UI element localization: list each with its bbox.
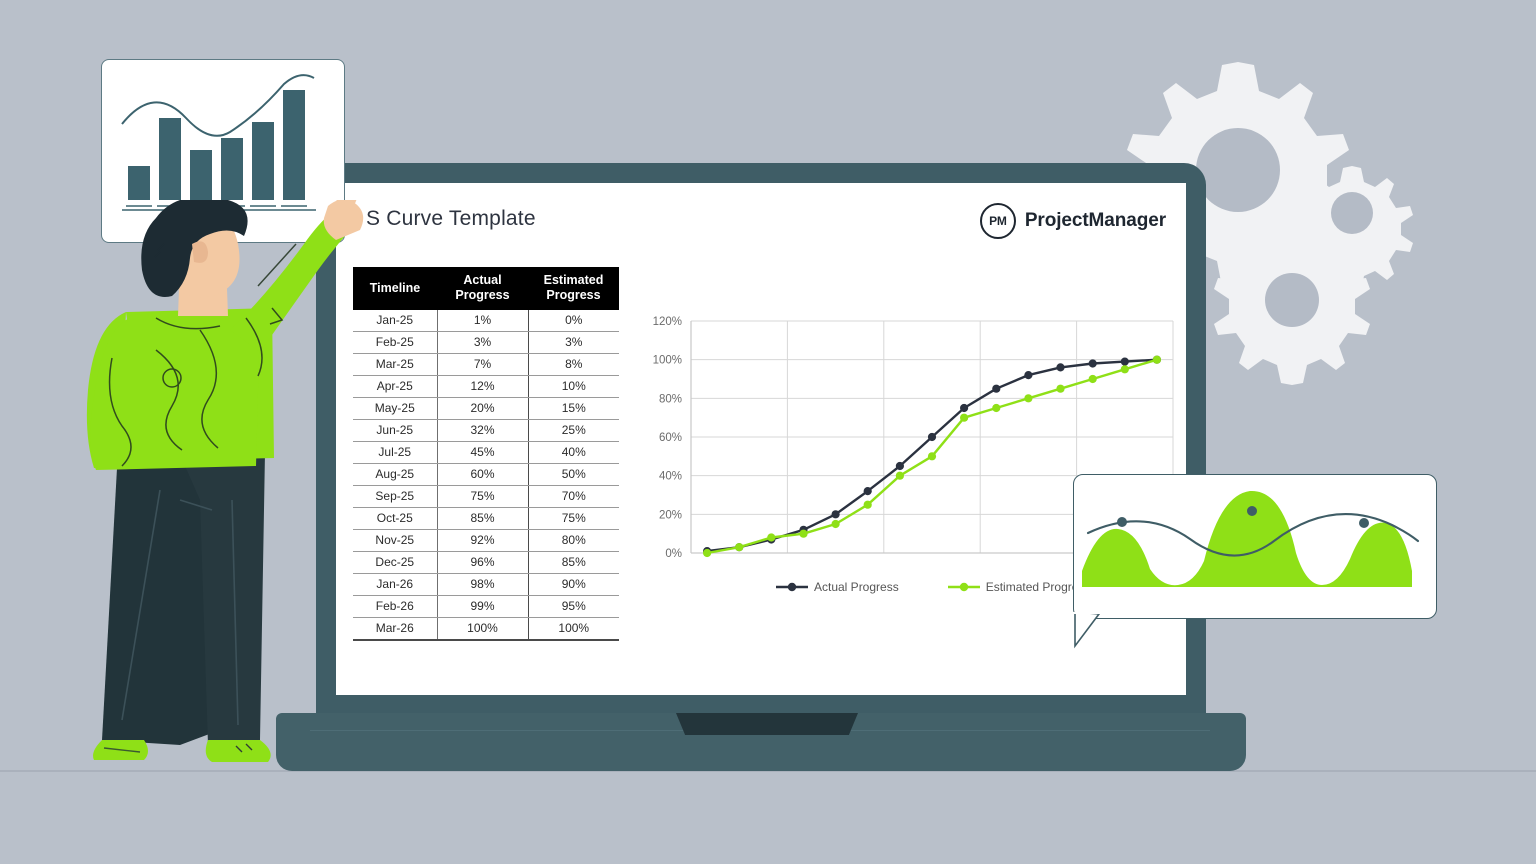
table-cell-actual: 32% <box>437 419 528 441</box>
table-row: Jul-2545%40% <box>353 441 619 463</box>
table-cell-estimated: 40% <box>528 441 619 463</box>
gear-medium-icon <box>1214 228 1370 385</box>
data-point <box>864 487 872 495</box>
whiteboard-chart-icon <box>102 60 340 238</box>
whiteboard-bar <box>283 90 305 200</box>
table-cell-actual: 20% <box>437 397 528 419</box>
data-point <box>1024 394 1032 402</box>
table-body: Jan-251%0%Feb-253%3%Mar-257%8%Apr-2512%1… <box>353 310 619 640</box>
person-left-shoe <box>93 740 148 760</box>
table-row: Feb-2699%95% <box>353 595 619 617</box>
table-row: Jun-2532%25% <box>353 419 619 441</box>
screen-header: S Curve Template PM ProjectManager <box>366 203 1166 251</box>
data-point <box>703 549 711 557</box>
data-point <box>992 385 1000 393</box>
table-row: Oct-2585%75% <box>353 507 619 529</box>
pm-circle-icon: PM <box>980 203 1016 239</box>
data-point <box>735 543 743 551</box>
table-cell-actual: 7% <box>437 353 528 375</box>
legend-item-actual: Actual Progress <box>775 580 899 594</box>
bubble-data-point <box>1117 517 1127 527</box>
table-row: Jan-2698%90% <box>353 573 619 595</box>
data-point <box>1089 359 1097 367</box>
table-cell-actual: 98% <box>437 573 528 595</box>
column-header-actual-progress: Actual Progress <box>437 267 528 310</box>
y-axis-tick-label: 100% <box>653 355 682 367</box>
bubble-area-fill <box>1082 491 1412 587</box>
table-cell-estimated: 80% <box>528 529 619 551</box>
whiteboard-bar <box>159 118 181 200</box>
table-cell-actual: 100% <box>437 617 528 640</box>
table-header-row: Timeline Actual Progress Estimated Progr… <box>353 267 619 310</box>
person-sweater-torso <box>90 318 260 470</box>
table-cell-timeline: Jun-25 <box>353 419 437 441</box>
data-point <box>832 520 840 528</box>
data-point <box>1089 375 1097 383</box>
bubble-area-chart-icon <box>1074 475 1434 616</box>
data-point <box>896 462 904 470</box>
column-header-estimated-line2: Progress <box>546 288 600 302</box>
legend-swatch-actual-icon <box>775 581 809 593</box>
table-row: Mar-257%8% <box>353 353 619 375</box>
table-cell-actual: 12% <box>437 375 528 397</box>
table-cell-estimated: 90% <box>528 573 619 595</box>
column-header-timeline: Timeline <box>353 267 437 310</box>
table-cell-estimated: 3% <box>528 331 619 353</box>
data-point <box>960 414 968 422</box>
table-cell-actual: 85% <box>437 507 528 529</box>
table-cell-timeline: Dec-25 <box>353 551 437 573</box>
table-cell-actual: 45% <box>437 441 528 463</box>
legend-item-estimated: Estimated Progress <box>947 580 1091 594</box>
person-neck <box>178 262 228 316</box>
data-point <box>864 501 872 509</box>
whiteboard-bar <box>128 166 150 200</box>
screenshot-canvas: S Curve Template PM ProjectManager Timel… <box>0 0 1536 864</box>
table-cell-actual: 75% <box>437 485 528 507</box>
table-cell-timeline: Mar-25 <box>353 353 437 375</box>
table-cell-timeline: Mar-26 <box>353 617 437 640</box>
bubble-data-point <box>1247 506 1257 516</box>
data-point <box>1153 356 1161 364</box>
data-point <box>1121 358 1129 366</box>
table-cell-timeline: Apr-25 <box>353 375 437 397</box>
table-row: Dec-2596%85% <box>353 551 619 573</box>
y-axis-tick-label: 40% <box>659 471 682 483</box>
table-cell-timeline: May-25 <box>353 397 437 419</box>
table-cell-timeline: Jan-26 <box>353 573 437 595</box>
person-left-leg <box>102 450 235 745</box>
table-cell-timeline: Oct-25 <box>353 507 437 529</box>
chart-legend: Actual Progress Estimated Progress <box>775 580 1090 594</box>
data-point <box>960 404 968 412</box>
y-axis-tick-label: 80% <box>659 393 682 405</box>
table-cell-actual: 92% <box>437 529 528 551</box>
whiteboard-bar <box>221 138 243 200</box>
column-header-estimated-progress: Estimated Progress <box>528 267 619 310</box>
table-cell-timeline: Jan-25 <box>353 310 437 332</box>
legend-swatch-estimated-icon <box>947 581 981 593</box>
data-point <box>832 510 840 518</box>
column-header-estimated-line1: Estimated <box>544 273 604 287</box>
table-cell-estimated: 0% <box>528 310 619 332</box>
person-right-shoe <box>206 740 271 762</box>
y-axis-tick-label: 0% <box>665 548 682 560</box>
bubble-data-point <box>1359 518 1369 528</box>
whiteboard-bar <box>190 150 212 200</box>
table-cell-estimated: 85% <box>528 551 619 573</box>
table-cell-estimated: 25% <box>528 419 619 441</box>
whiteboard <box>101 59 345 243</box>
brand-logo: PM ProjectManager <box>980 203 1166 239</box>
table-cell-timeline: Feb-26 <box>353 595 437 617</box>
table-cell-actual: 3% <box>437 331 528 353</box>
data-point <box>799 530 807 538</box>
data-point <box>992 404 1000 412</box>
data-point <box>928 433 936 441</box>
table-cell-estimated: 8% <box>528 353 619 375</box>
table-row: Feb-253%3% <box>353 331 619 353</box>
table-cell-estimated: 10% <box>528 375 619 397</box>
table-cell-estimated: 50% <box>528 463 619 485</box>
page-title: S Curve Template <box>366 207 536 231</box>
table-cell-estimated: 70% <box>528 485 619 507</box>
table-cell-actual: 1% <box>437 310 528 332</box>
table-cell-actual: 60% <box>437 463 528 485</box>
table-cell-estimated: 95% <box>528 595 619 617</box>
brand-name: ProjectManager <box>1025 210 1166 232</box>
table-row: May-2520%15% <box>353 397 619 419</box>
table-row: Aug-2560%50% <box>353 463 619 485</box>
column-header-actual-line1: Actual <box>463 273 501 287</box>
table-row: Nov-2592%80% <box>353 529 619 551</box>
laptop-trackpad-notch <box>676 713 858 735</box>
table-cell-estimated: 15% <box>528 397 619 419</box>
table-cell-actual: 96% <box>437 551 528 573</box>
data-point <box>1056 385 1064 393</box>
y-axis-tick-label: 120% <box>653 316 682 328</box>
y-axis-tick-label: 60% <box>659 432 682 444</box>
progress-table-container: Timeline Actual Progress Estimated Progr… <box>353 267 607 641</box>
whiteboard-bar <box>252 122 274 200</box>
gear-small-icon <box>1291 166 1413 292</box>
table-row: Jan-251%0% <box>353 310 619 332</box>
person-ear <box>192 241 208 263</box>
table-cell-estimated: 75% <box>528 507 619 529</box>
table-cell-timeline: Nov-25 <box>353 529 437 551</box>
person-right-leg <box>178 450 265 745</box>
table-row: Mar-26100%100% <box>353 617 619 640</box>
legend-label-actual: Actual Progress <box>814 580 899 594</box>
table-cell-timeline: Jul-25 <box>353 441 437 463</box>
table-cell-estimated: 100% <box>528 617 619 640</box>
data-point <box>928 452 936 460</box>
progress-table: Timeline Actual Progress Estimated Progr… <box>353 267 619 641</box>
data-point <box>896 472 904 480</box>
table-row: Apr-2512%10% <box>353 375 619 397</box>
data-point <box>1024 371 1032 379</box>
data-point <box>1056 363 1064 371</box>
table-cell-actual: 99% <box>437 595 528 617</box>
y-axis-tick-label: 20% <box>659 509 682 521</box>
data-point <box>1121 365 1129 373</box>
table-cell-timeline: Aug-25 <box>353 463 437 485</box>
table-row: Sep-2575%70% <box>353 485 619 507</box>
person-sweater <box>87 308 274 468</box>
data-point <box>767 533 775 541</box>
table-cell-timeline: Sep-25 <box>353 485 437 507</box>
table-cell-timeline: Feb-25 <box>353 331 437 353</box>
speech-bubble <box>1073 474 1437 619</box>
column-header-actual-line2: Progress <box>455 288 509 302</box>
